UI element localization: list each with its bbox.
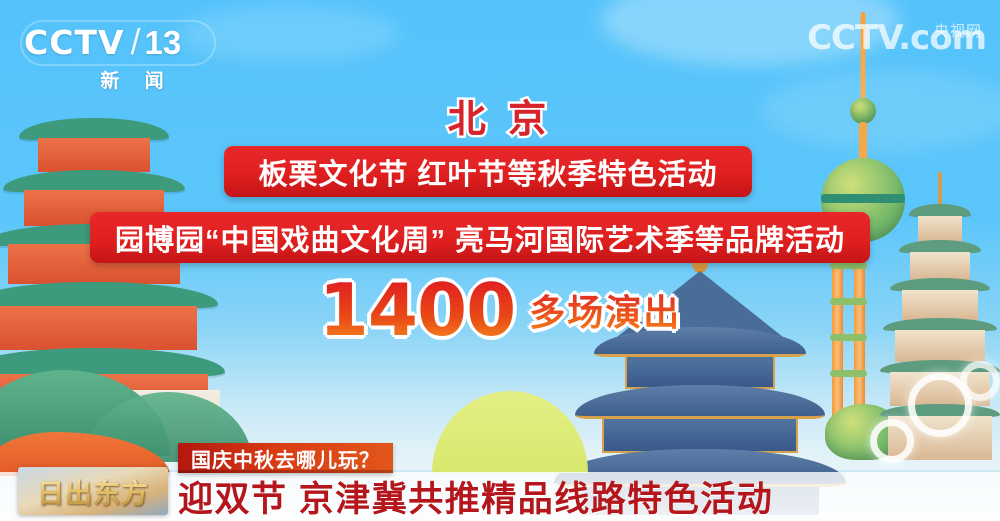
city-title: 北 京 [0,88,1000,143]
program-logo: 日出东方 [18,467,168,515]
info-banner-activities: 板栗文化节 红叶节等秋季特色活动 [224,146,752,197]
kicker-label: 国庆中秋去哪儿玩？ [178,443,393,473]
logo-slash-icon: / [131,21,141,63]
broadcast-screen: CCTV / 13 新 闻 CCTV.com 央视网 北 京 北 京 板栗文化节… [0,0,1000,521]
cctv-13-logo: CCTV / 13 新 闻 [24,22,224,90]
news-headline: 迎双节 京津冀共推精品线路特色活动 [178,473,773,519]
stat-number: 1400 [319,276,515,344]
program-logo-text: 日出东方 [37,472,149,511]
cloud-swirl-ornament [960,361,1000,401]
stat-suffix: 多场演出 [529,284,681,336]
cloud-swirl-ornament [870,419,914,463]
info-banner-brand-events: 园博园“中国戏曲文化周” 亮马河国际艺术季等品牌活动 [90,212,870,263]
logo-oval-outline [20,20,216,66]
watermark-chinese: 央视网 [934,20,982,41]
cctv-com-watermark: CCTV.com 央视网 [807,18,986,58]
performance-stat: 1400 多场演出 [0,276,1000,344]
